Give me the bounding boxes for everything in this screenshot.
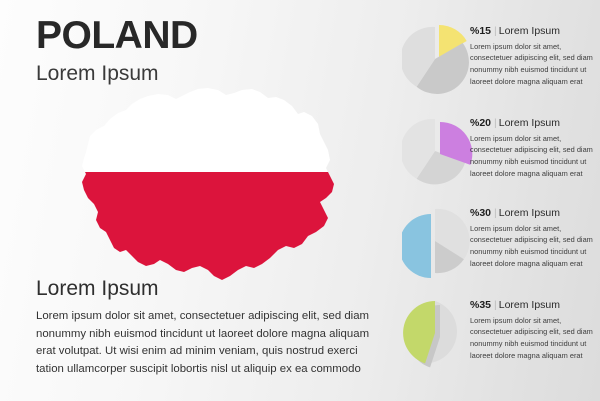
stat-text-3: %30|Lorem Ipsum Lorem ipsum dolor sit am… bbox=[470, 208, 598, 270]
title-block: POLAND Lorem Ipsum bbox=[36, 16, 376, 84]
stat-row-1[interactable]: %15|Lorem Ipsum Lorem ipsum dolor sit am… bbox=[402, 18, 598, 102]
infographic-page: POLAND Lorem Ipsum Lorem Ipsum Lorem ips… bbox=[0, 0, 600, 401]
stat-text-2: %20|Lorem Ipsum Lorem ipsum dolor sit am… bbox=[470, 118, 598, 180]
stat-separator-1: | bbox=[494, 26, 497, 37]
pie-chart-1-svg bbox=[402, 18, 474, 96]
stat-separator-3: | bbox=[494, 208, 497, 219]
stat-desc-2: Lorem ipsum dolor sit amet, consectetuer… bbox=[470, 133, 598, 181]
pie-chart-1 bbox=[402, 18, 474, 96]
pie-chart-3-svg bbox=[402, 200, 474, 278]
page-title: POLAND bbox=[36, 16, 376, 55]
stat-label-1: Lorem Ipsum bbox=[499, 25, 560, 37]
stat-separator-2: | bbox=[494, 118, 497, 129]
stat-label-3: Lorem Ipsum bbox=[499, 207, 560, 219]
poland-map bbox=[62, 86, 354, 286]
stat-head-4: %35|Lorem Ipsum bbox=[470, 300, 598, 311]
pie-chart-2-svg bbox=[402, 110, 474, 188]
stat-desc-1: Lorem ipsum dolor sit amet, consectetuer… bbox=[470, 41, 598, 89]
body-heading: Lorem Ipsum bbox=[36, 278, 388, 299]
stat-head-2: %20|Lorem Ipsum bbox=[470, 118, 598, 129]
stat-row-4[interactable]: %35|Lorem Ipsum Lorem ipsum dolor sit am… bbox=[402, 292, 598, 376]
stat-label-4: Lorem Ipsum bbox=[499, 299, 560, 311]
body-paragraph: Lorem ipsum dolor sit amet, consectetuer… bbox=[36, 308, 388, 379]
stat-percent-2: %20 bbox=[470, 117, 491, 129]
pie-slice-accent bbox=[402, 214, 431, 278]
flag-stripe-red bbox=[62, 172, 354, 286]
stat-desc-3: Lorem ipsum dolor sit amet, consectetuer… bbox=[470, 223, 598, 271]
stat-text-1: %15|Lorem Ipsum Lorem ipsum dolor sit am… bbox=[470, 26, 598, 88]
poland-map-svg bbox=[62, 86, 354, 286]
pie-chart-2 bbox=[402, 110, 474, 188]
stat-percent-4: %35 bbox=[470, 299, 491, 311]
pie-chart-4-svg bbox=[402, 292, 474, 370]
stat-row-2[interactable]: %20|Lorem Ipsum Lorem ipsum dolor sit am… bbox=[402, 110, 598, 194]
stat-percent-3: %30 bbox=[470, 207, 491, 219]
stat-desc-4: Lorem ipsum dolor sit amet, consectetuer… bbox=[470, 315, 598, 363]
stat-separator-4: | bbox=[494, 300, 497, 311]
flag-stripe-white bbox=[62, 86, 354, 172]
stat-percent-1: %15 bbox=[470, 25, 491, 37]
page-subtitle: Lorem Ipsum bbox=[36, 63, 376, 84]
pie-chart-4 bbox=[402, 292, 474, 370]
body-block: Lorem Ipsum Lorem ipsum dolor sit amet, … bbox=[36, 278, 388, 379]
stat-row-3[interactable]: %30|Lorem Ipsum Lorem ipsum dolor sit am… bbox=[402, 200, 598, 284]
stat-label-2: Lorem Ipsum bbox=[499, 117, 560, 129]
stat-head-1: %15|Lorem Ipsum bbox=[470, 26, 598, 37]
pie-chart-3 bbox=[402, 200, 474, 278]
map-flag-fill bbox=[62, 86, 354, 286]
stat-text-4: %35|Lorem Ipsum Lorem ipsum dolor sit am… bbox=[470, 300, 598, 362]
stat-head-3: %30|Lorem Ipsum bbox=[470, 208, 598, 219]
